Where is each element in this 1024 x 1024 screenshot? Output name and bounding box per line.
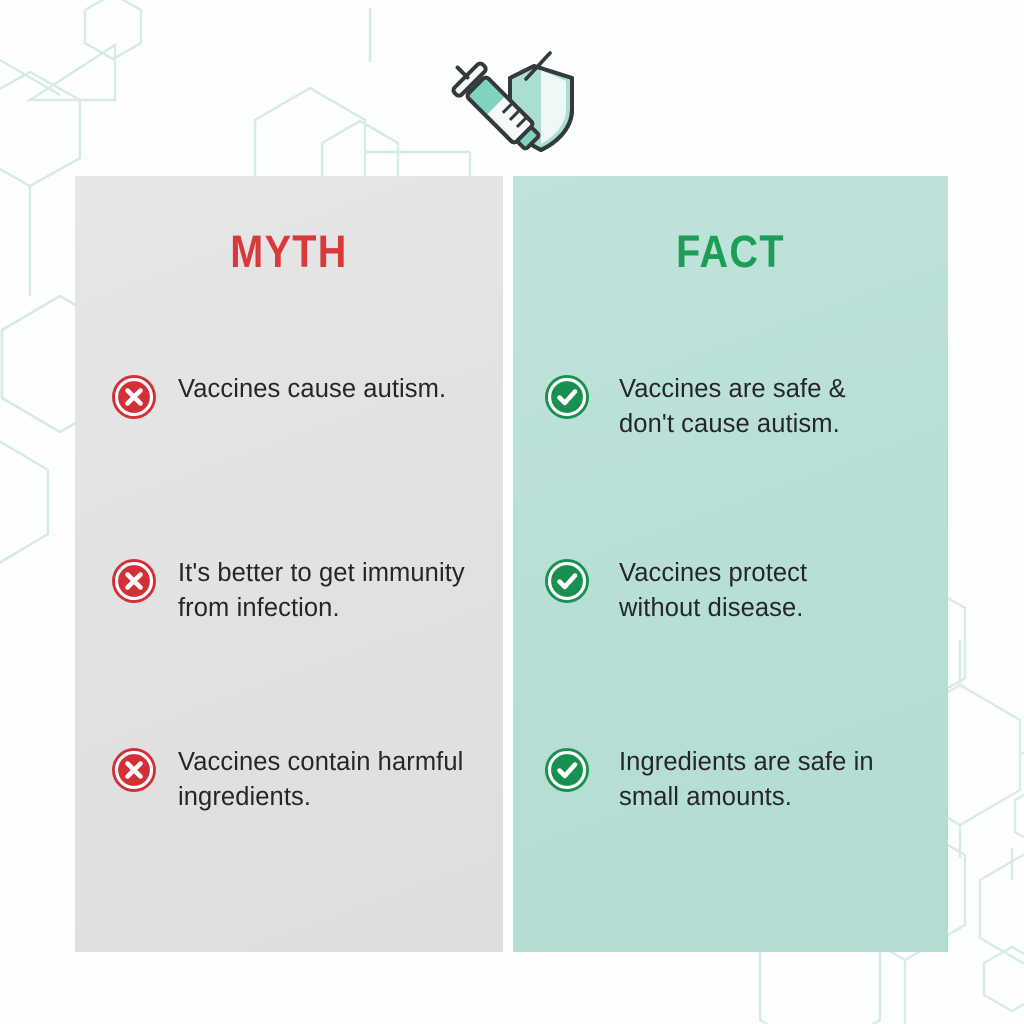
circle-check-icon [543,746,591,794]
fact-list-item: Ingredients are safe in small amounts. [543,744,943,814]
myth-list-item: Vaccines cause autism. [110,371,500,421]
myth-item-text: Vaccines cause autism. [178,371,446,407]
myth-column-title: MYTH [101,226,478,278]
fact-panel: FACT Vaccines are safe & don't cause aut… [513,176,948,952]
myth-item-text: It's better to get immunity from infecti… [178,555,465,625]
fact-item-text: Ingredients are safe in small amounts. [611,744,874,814]
fact-list-item: Vaccines protect without disease. [543,555,943,625]
circle-x-icon [110,373,158,421]
fact-list-item: Vaccines are safe & don't cause autism. [543,371,943,441]
fact-item-text: Vaccines protect without disease. [611,555,807,625]
fact-column-title: FACT [539,226,922,278]
myth-item-text: Vaccines contain harmful ingredients. [178,744,463,814]
circle-x-icon [110,746,158,794]
myth-list-item: Vaccines contain harmful ingredients. [110,744,500,814]
myth-panel: MYTH Vaccines cause autism. It's better … [75,176,503,952]
myth-list-item: It's better to get immunity from infecti… [110,555,500,625]
fact-item-text: Vaccines are safe & don't cause autism. [611,371,846,441]
circle-x-icon [110,557,158,605]
circle-check-icon [543,557,591,605]
infographic-canvas: MYTH Vaccines cause autism. It's better … [0,0,1024,1024]
syringe-shield-icon [438,48,588,158]
circle-check-icon [543,373,591,421]
